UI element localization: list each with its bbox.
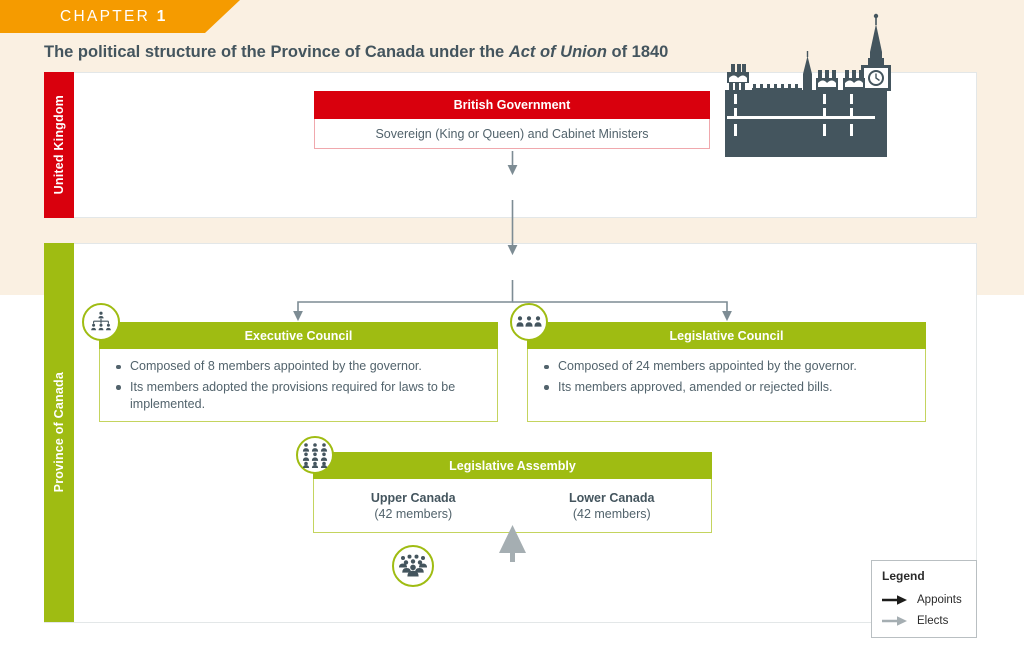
british-government-title: British Government bbox=[314, 91, 710, 119]
lower-canada-cell: Lower Canada (42 members) bbox=[513, 479, 712, 532]
legislative-assembly-node: Legislative Assembly Upper Canada (42 me… bbox=[313, 452, 712, 533]
executive-council-title: Executive Council bbox=[99, 322, 498, 349]
legislative-council-bullets: Composed of 24 members appointed by the … bbox=[528, 349, 925, 396]
legend-label-elects: Elects bbox=[917, 615, 948, 627]
title-part-1: The political structure of the Province … bbox=[44, 43, 509, 61]
legislative-council-node: Legislative Council Composed of 24 membe… bbox=[527, 322, 926, 422]
legend-row-elects: Elects bbox=[882, 610, 976, 631]
legend-label-appoints: Appoints bbox=[917, 594, 962, 606]
upper-canada-cell: Upper Canada (42 members) bbox=[314, 479, 513, 532]
legislative-council-title: Legislative Council bbox=[527, 322, 926, 349]
legend-row-appoints: Appoints bbox=[882, 589, 976, 610]
upper-canada-name: Upper Canada bbox=[371, 490, 456, 506]
british-government-subtitle: Sovereign (King or Queen) and Cabinet Mi… bbox=[314, 119, 710, 149]
diagram-canvas: CHAPTER 1 The political structure of the… bbox=[0, 0, 1024, 654]
list-item: Its members adopted the provisions requi… bbox=[130, 379, 483, 414]
chapter-banner: CHAPTER 1 bbox=[0, 0, 240, 33]
arrow-right-icon bbox=[882, 615, 910, 627]
legislative-assembly-title: Legislative Assembly bbox=[313, 452, 712, 479]
legend: Legend Appoints Elects bbox=[871, 560, 977, 638]
province-of-canada-panel bbox=[44, 243, 977, 623]
palace-of-westminster-silhouette bbox=[715, 12, 920, 162]
chapter-number: 1 bbox=[157, 8, 166, 25]
crowd-icon bbox=[392, 545, 434, 587]
lower-canada-name: Lower Canada bbox=[569, 490, 654, 506]
legislative-assembly-body: Upper Canada (42 members) Lower Canada (… bbox=[313, 479, 712, 533]
people-grid-icon bbox=[296, 436, 334, 474]
title-year: 1840 bbox=[632, 43, 669, 61]
british-government-node: British Government Sovereign (King or Qu… bbox=[314, 91, 710, 149]
united-kingdom-side-label: United Kingdom bbox=[44, 72, 74, 218]
list-item: Composed of 8 members appointed by the g… bbox=[130, 358, 483, 376]
title-italic: Act of Union bbox=[509, 43, 607, 61]
executive-council-bullets: Composed of 8 members appointed by the g… bbox=[100, 349, 497, 414]
org-chart-icon bbox=[82, 303, 120, 341]
chapter-word: CHAPTER bbox=[60, 8, 150, 25]
legislative-council-body: Composed of 24 members appointed by the … bbox=[527, 349, 926, 422]
executive-council-node: Executive Council Composed of 8 members … bbox=[99, 322, 498, 422]
list-item: Its members approved, amended or rejecte… bbox=[558, 379, 911, 397]
executive-council-body: Composed of 8 members appointed by the g… bbox=[99, 349, 498, 422]
lower-canada-members: (42 members) bbox=[573, 506, 651, 522]
three-people-icon bbox=[510, 303, 548, 341]
province-of-canada-label-text: Province of Canada bbox=[52, 372, 66, 492]
upper-canada-members: (42 members) bbox=[374, 506, 452, 522]
arrow-right-icon bbox=[882, 594, 910, 606]
legend-title: Legend bbox=[882, 569, 976, 583]
title-part-2: of bbox=[607, 43, 632, 61]
chapter-label: CHAPTER 1 bbox=[60, 8, 166, 26]
united-kingdom-label-text: United Kingdom bbox=[52, 95, 66, 194]
list-item: Composed of 24 members appointed by the … bbox=[558, 358, 911, 376]
province-of-canada-side-label: Province of Canada bbox=[44, 243, 74, 622]
